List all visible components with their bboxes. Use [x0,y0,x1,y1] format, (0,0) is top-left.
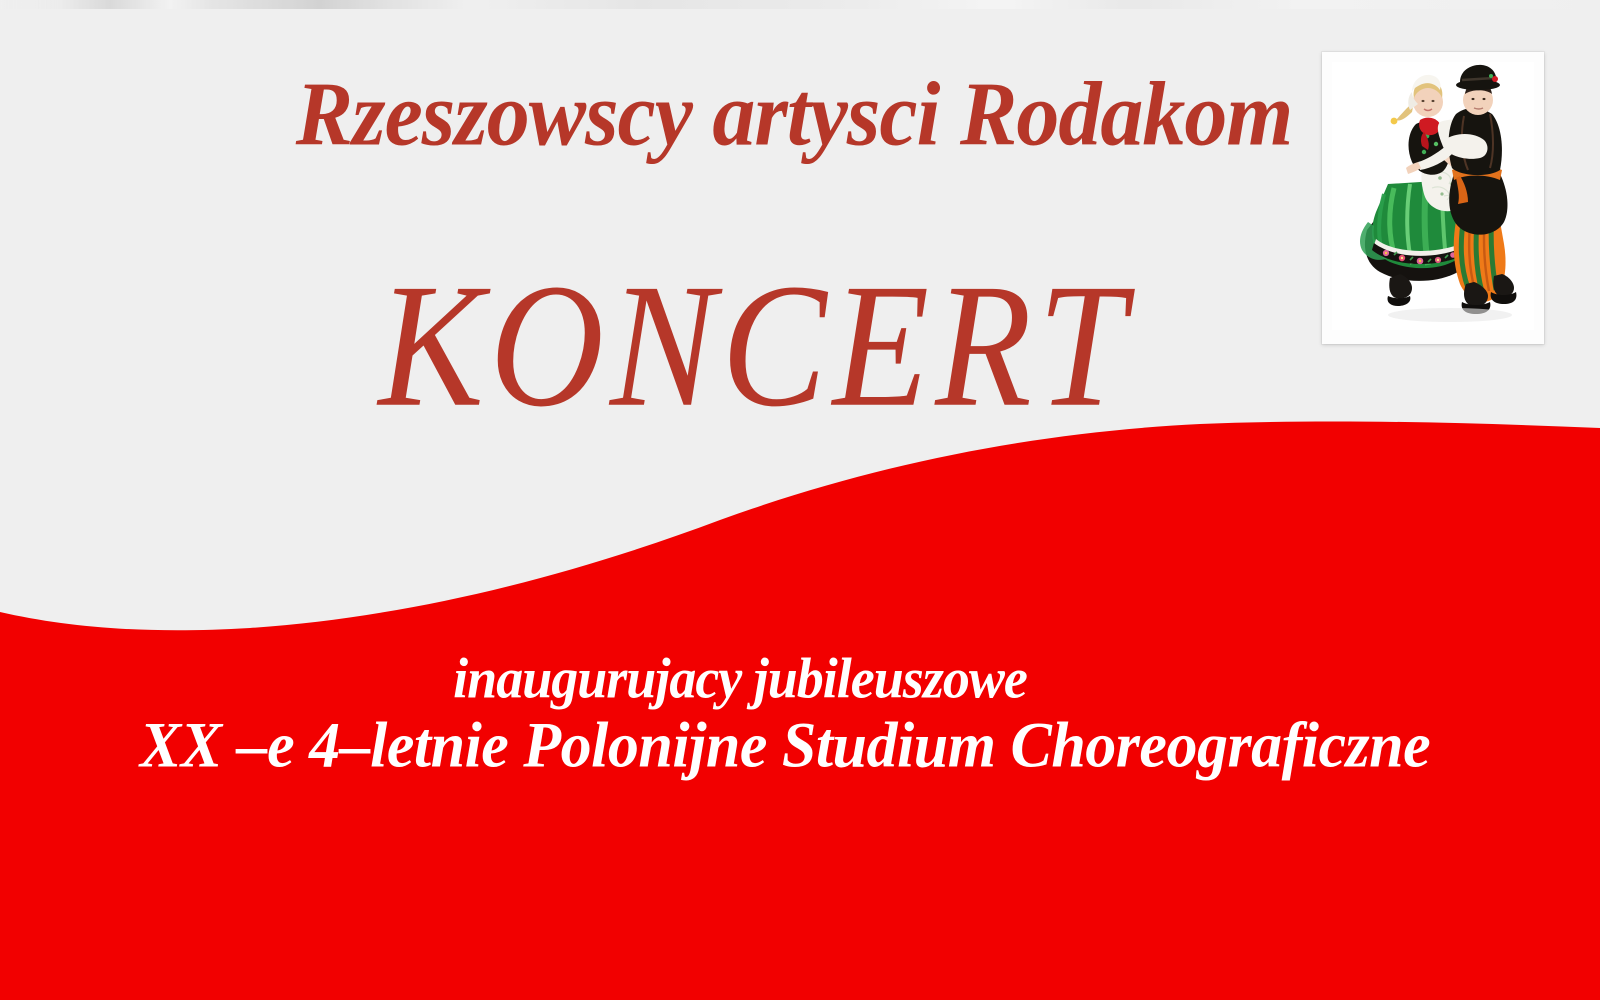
poster-canvas: Rzeszowscy artysci Rodakom KONCERT inaug… [0,0,1600,1000]
folk-dancers-photo [1332,62,1534,330]
subtitle-line-2: XX –e 4–letnie Polonijne Studium Choreog… [0,710,1600,783]
poster-subtitle-block: inaugurujacy jubileuszowe XX –e 4–letnie… [0,648,1600,780]
subtitle-line-1: inaugurujacy jubileuszowe [0,648,1600,709]
scan-edge-artifact [0,0,1600,14]
folk-dancers-photo-frame [1322,52,1544,344]
